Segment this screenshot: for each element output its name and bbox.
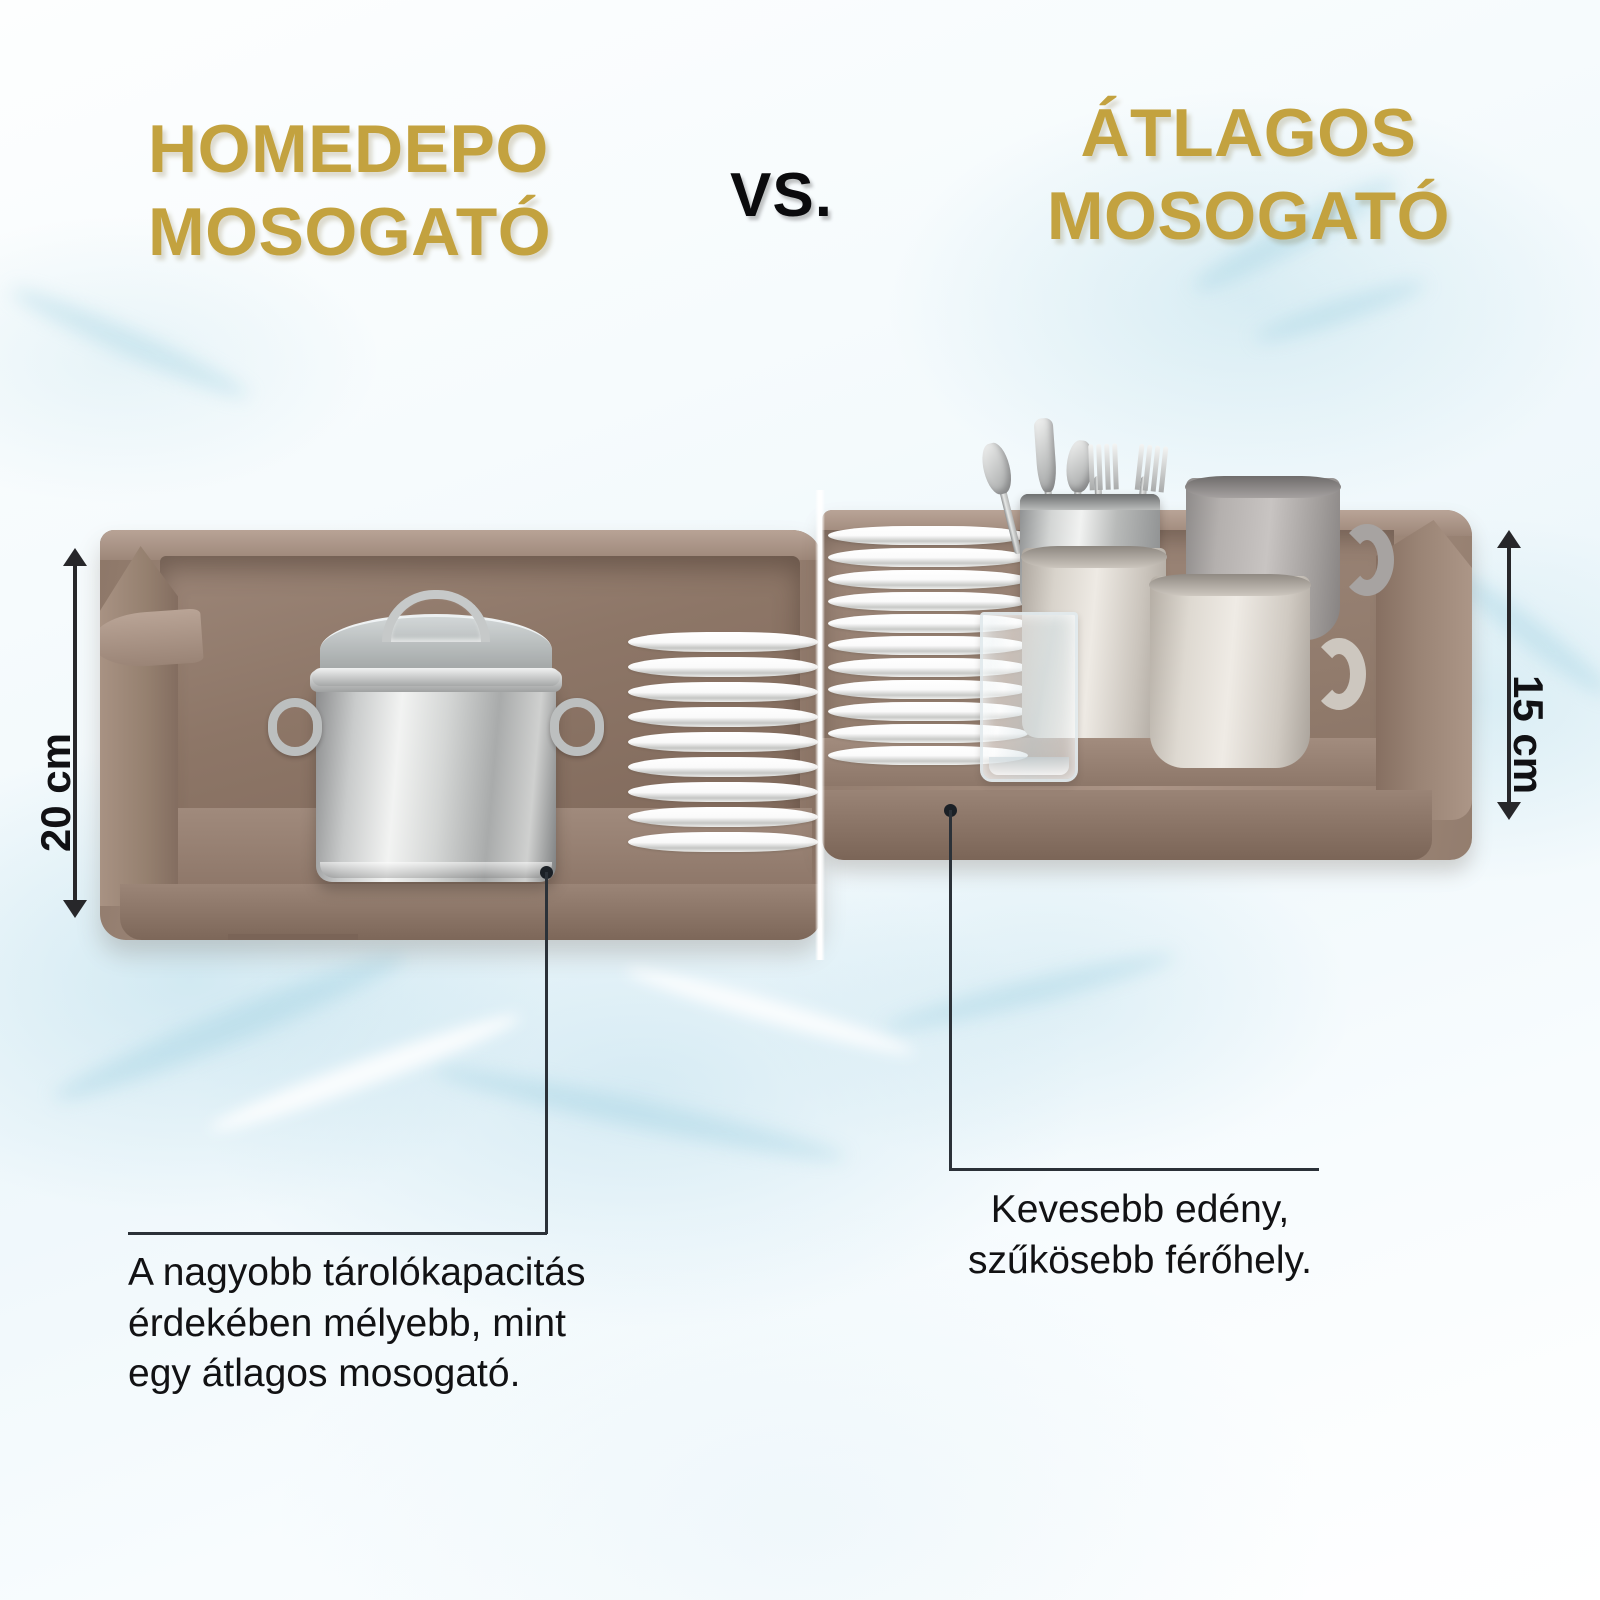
plate-stack-left bbox=[628, 632, 818, 882]
pot-handle-right bbox=[550, 698, 604, 756]
arrow-head-down-icon bbox=[63, 900, 87, 918]
arrow-head-down-icon bbox=[1497, 802, 1521, 820]
plate bbox=[628, 782, 818, 802]
mug-rim bbox=[1149, 574, 1311, 596]
versus-label: VS. bbox=[730, 160, 833, 231]
pot-lid-handle bbox=[382, 590, 490, 642]
plate bbox=[828, 592, 1028, 611]
drinking-glass bbox=[980, 612, 1078, 782]
fork-tine bbox=[1104, 444, 1111, 490]
knife-blade bbox=[1033, 418, 1057, 493]
plate bbox=[628, 632, 818, 652]
caption-left: A nagyobb tárolókapacitás érdekében mély… bbox=[128, 1248, 586, 1400]
plate bbox=[828, 570, 1028, 589]
callout-horizontal-line bbox=[128, 1232, 547, 1235]
dimension-arrow-right: 15 cm bbox=[1494, 530, 1524, 820]
plate bbox=[628, 807, 818, 827]
fork-tine bbox=[1088, 444, 1095, 490]
dimension-arrow-left: 20 cm bbox=[60, 548, 90, 918]
plate bbox=[628, 732, 818, 752]
sink-front-edge bbox=[120, 884, 822, 940]
callout-vertical-line bbox=[545, 872, 548, 1234]
pot-handle-left bbox=[268, 698, 322, 756]
beige-mug bbox=[1150, 576, 1310, 768]
spoon-bowl bbox=[978, 440, 1016, 497]
plate bbox=[628, 682, 818, 702]
marble-vein bbox=[432, 1057, 849, 1172]
stock-pot bbox=[286, 590, 586, 890]
sink-foot bbox=[228, 934, 358, 940]
plate bbox=[628, 757, 818, 777]
plate bbox=[828, 548, 1028, 567]
caption-right: Kevesebb edény, szűkösebb férőhely. bbox=[930, 1185, 1350, 1286]
product-comparison-images bbox=[0, 490, 1600, 960]
sink-spout bbox=[100, 608, 204, 670]
comparison-infographic: HOMEDEPO MOSOGATÓ VS. ÁTLAGOS MOSOGATÓ bbox=[0, 0, 1600, 1600]
mug-handle bbox=[1312, 638, 1366, 710]
fork-tine bbox=[1112, 443, 1119, 489]
plate bbox=[628, 657, 818, 677]
page-title-right: ÁTLAGOS MOSOGATÓ bbox=[1047, 92, 1450, 258]
mug-rim bbox=[1185, 476, 1341, 498]
sink-front-edge bbox=[822, 790, 1432, 860]
sink-left-wall bbox=[100, 546, 178, 906]
marble-vein bbox=[6, 278, 254, 408]
plate bbox=[628, 707, 818, 727]
page-title-left: HOMEDEPO MOSOGATÓ bbox=[148, 108, 551, 274]
fork-tine bbox=[1096, 444, 1103, 490]
image-divider bbox=[815, 490, 825, 960]
marble-vein bbox=[1251, 273, 1429, 350]
marble-highlight bbox=[623, 959, 917, 1063]
plate bbox=[828, 526, 1028, 545]
pot-lid-rim bbox=[312, 668, 560, 686]
dimension-label-right: 15 cm bbox=[1504, 675, 1552, 794]
mug-handle bbox=[1340, 524, 1394, 596]
cup-rim bbox=[1021, 546, 1167, 568]
dimension-label-left: 20 cm bbox=[32, 733, 80, 852]
pot-body bbox=[316, 682, 556, 882]
mug-body bbox=[1150, 576, 1310, 768]
plate bbox=[628, 832, 818, 852]
callout-horizontal-line bbox=[949, 1168, 1319, 1171]
fork-tine bbox=[1159, 446, 1169, 492]
callout-vertical-line bbox=[949, 810, 952, 1170]
